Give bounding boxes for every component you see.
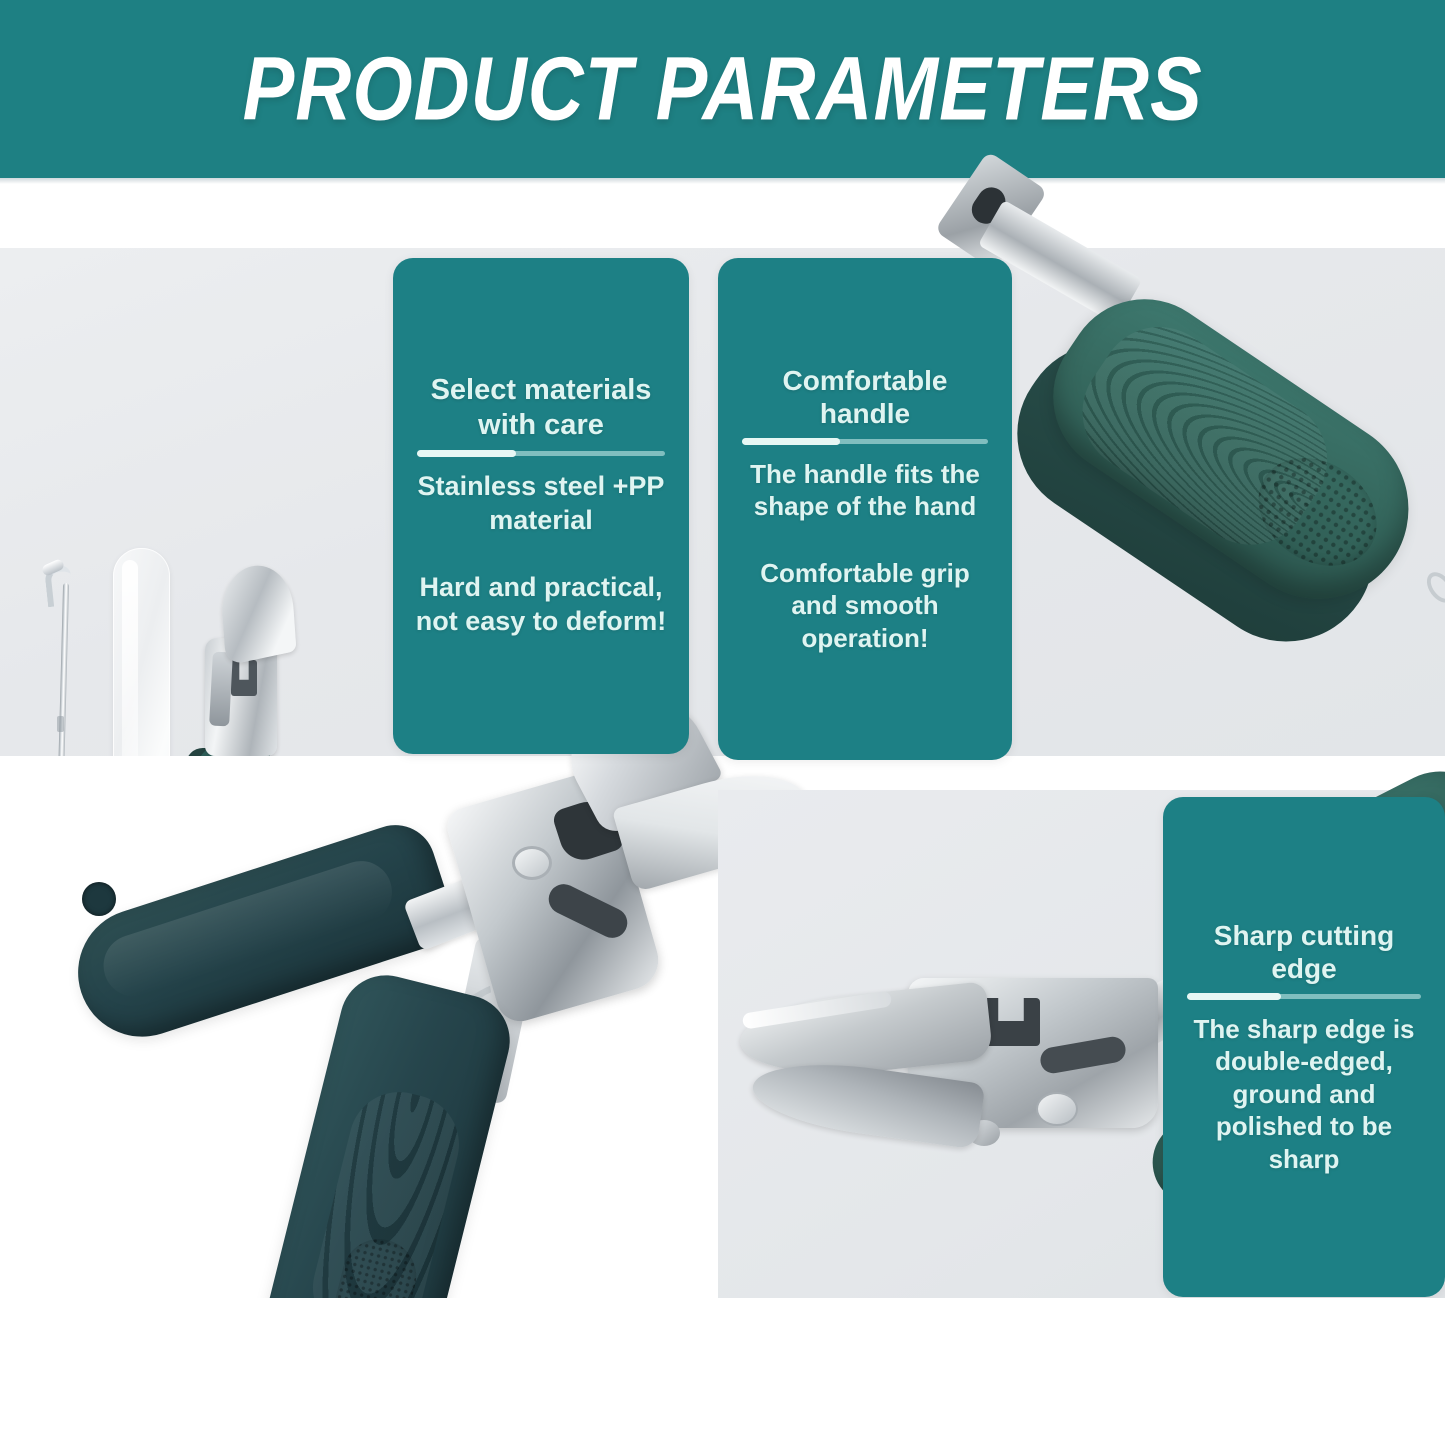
jaw-rivet xyxy=(1036,1092,1078,1126)
card-divider xyxy=(1187,994,1421,999)
small-clipper-upper-blade xyxy=(220,558,297,666)
page-title: PRODUCT PARAMETERS xyxy=(242,38,1202,141)
card-body-grip: Comfortable grip and smooth operation! xyxy=(740,557,990,655)
card-body-material: Stainless steel +PP material xyxy=(415,470,667,538)
feature-card-sharp-cutting-edge: Sharp cutting edge The sharp edge is dou… xyxy=(1163,797,1445,1297)
card-heading-sharp-cutting-edge: Sharp cutting edge xyxy=(1185,919,1423,986)
feature-card-select-materials: Select materials with care Stainless ste… xyxy=(393,258,689,754)
header-divider xyxy=(0,178,1445,184)
feature-card-comfortable-handle: Comfortable handle The handle fits the s… xyxy=(718,258,1012,760)
card-heading-select-materials: Select materials with care xyxy=(415,373,667,443)
card-heading-comfortable-handle: Comfortable handle xyxy=(740,364,990,431)
card-body-durability: Hard and practical, not easy to deform! xyxy=(415,571,667,639)
card-body-handle-shape: The handle fits the shape of the hand xyxy=(740,458,990,523)
page-header: PRODUCT PARAMETERS xyxy=(0,0,1445,178)
hero-handle-stud xyxy=(82,882,116,916)
card-divider xyxy=(417,451,665,456)
hero-pivot-rivet xyxy=(512,846,552,880)
card-body-edge: The sharp edge is double-edged, ground a… xyxy=(1185,1013,1423,1176)
page-footer-space xyxy=(0,1298,1445,1445)
card-divider xyxy=(742,439,988,444)
